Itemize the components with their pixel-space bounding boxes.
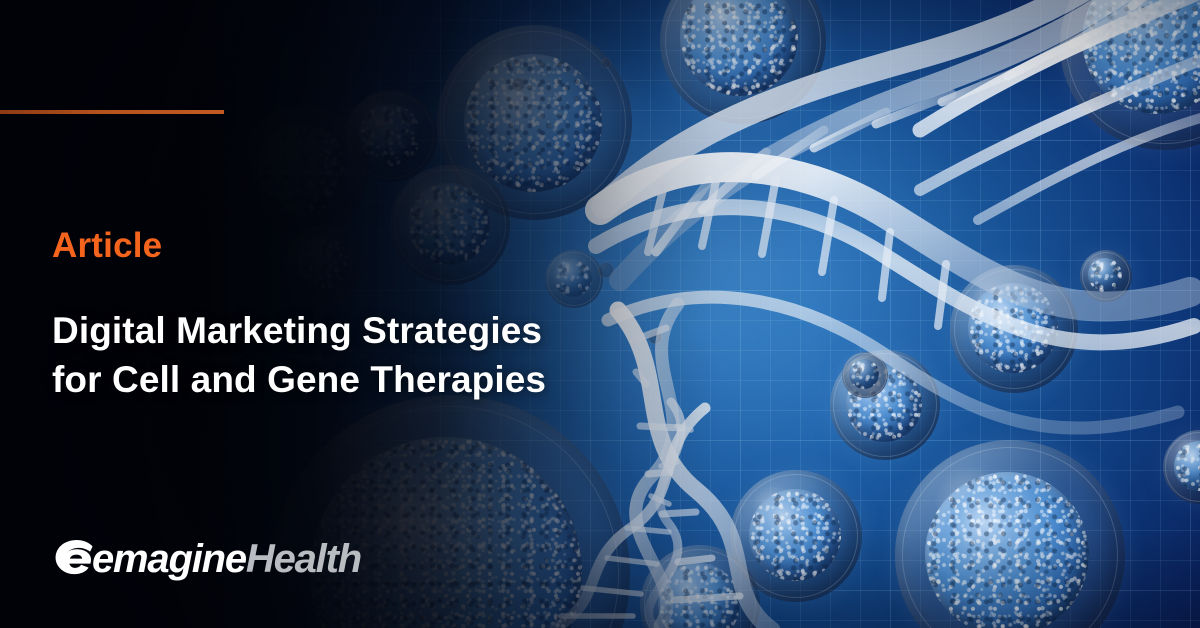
page-title-line-1: Digital Marketing Strategies	[52, 307, 592, 356]
page-title: Digital Marketing Strategies for Cell an…	[52, 307, 592, 405]
page-title-line-2: for Cell and Gene Therapies	[52, 356, 592, 405]
content-type-eyebrow: Article	[52, 228, 162, 263]
brand-logo-word-secondary: Health	[246, 537, 361, 581]
brand-logo-wordmark: emagineHealth	[92, 539, 361, 579]
accent-rule	[0, 110, 224, 114]
brand-logo-word-primary: emagine	[92, 537, 246, 581]
brand-logo[interactable]: emagineHealth	[52, 532, 368, 586]
article-social-card: Article Digital Marketing Strategies for…	[0, 0, 1200, 628]
card-content: Article Digital Marketing Strategies for…	[0, 0, 1200, 628]
